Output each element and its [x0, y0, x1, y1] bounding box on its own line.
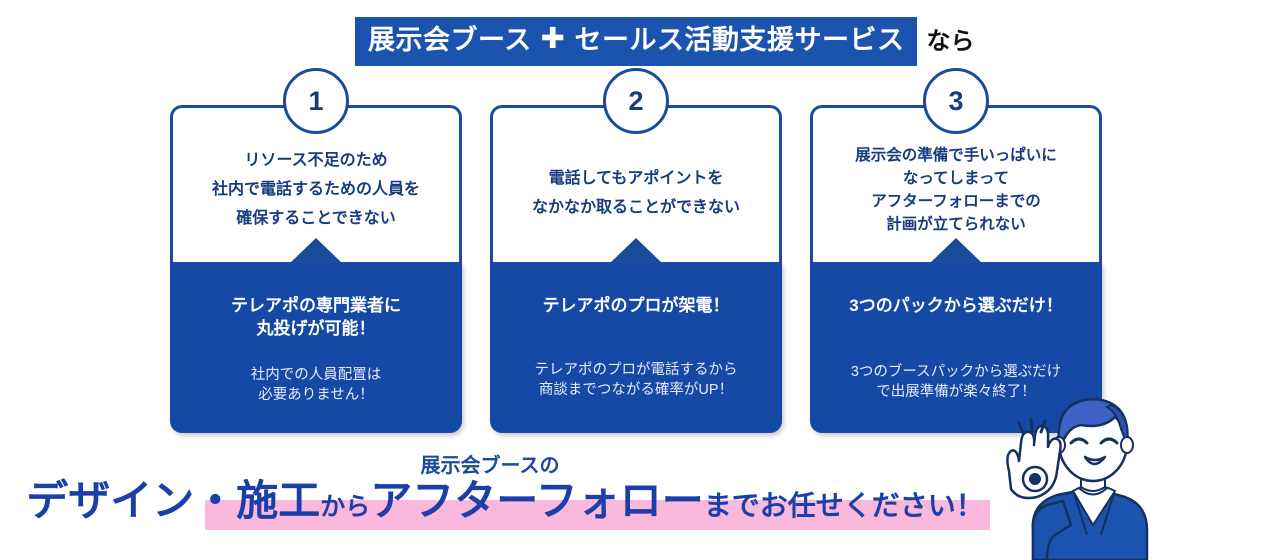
- card-solution-panel: テレアポの専門業者に丸投げが可能！ 社内での人員配置は必要ありません！: [170, 262, 462, 433]
- header-suffix: なら: [926, 30, 974, 54]
- infographic-canvas: 展示会ブース ✚ セールス活動支援サービス なら リソース不足のため社内で電話す…: [0, 0, 1280, 560]
- problem-solution-card: 電話してもアポイントをなかなか取ることができない テレアポのプロが架電！ テレア…: [490, 105, 782, 433]
- down-arrow-icon: [290, 238, 342, 263]
- header-banner-text-1: 展示会ブース: [368, 27, 532, 54]
- tagline-part-2: から: [320, 493, 370, 521]
- header-row: 展示会ブース ✚ セールス活動支援サービス なら: [355, 17, 974, 66]
- card-solution-heading: 3つのパックから選ぶだけ！: [810, 294, 1102, 317]
- card-solution-heading: テレアポの専門業者に丸投げが可能！: [170, 294, 462, 340]
- card-number-badge: 3: [923, 68, 989, 134]
- plus-icon: ✚: [541, 25, 566, 54]
- businesswoman-ok-gesture-icon: [975, 385, 1155, 560]
- card-solution-sub: テレアポのプロが電話するから商談までつながる確率がUP！: [490, 360, 782, 400]
- problem-solution-card: リソース不足のため社内で電話するための人員を確保することできない テレアポの専門…: [170, 105, 462, 433]
- header-banner: 展示会ブース ✚ セールス活動支援サービス: [355, 17, 917, 66]
- card-solution-sub: 社内での人員配置は必要ありません！: [170, 365, 462, 405]
- card-number-badge: 1: [283, 68, 349, 134]
- down-arrow-icon: [610, 238, 662, 263]
- card-solution-heading: テレアポのプロが架電！: [490, 294, 782, 317]
- tagline-part-1: デザイン・施工: [26, 477, 320, 524]
- card-solution-panel: テレアポのプロが架電！ テレアポのプロが電話するから商談までつながる確率がUP！: [490, 262, 782, 433]
- card-problem-text: 展示会の準備で手いっぱいになってしまってアフターフォローまでの計画が立てられない: [813, 144, 1099, 236]
- card-problem-text: 電話してもアポイントをなかなか取ることができない: [493, 164, 779, 222]
- down-arrow-icon: [930, 238, 982, 263]
- card-problem-text: リソース不足のため社内で電話するための人員を確保することできない: [173, 146, 459, 233]
- tagline-part-3: アフターフォロー: [370, 477, 703, 524]
- card-number-badge: 2: [603, 68, 669, 134]
- header-banner-text-2: セールス活動支援サービス: [574, 27, 904, 54]
- tagline-part-4: までお任せください！: [704, 490, 984, 521]
- problem-solution-card: 展示会の準備で手いっぱいになってしまってアフターフォローまでの計画が立てられない…: [810, 105, 1102, 433]
